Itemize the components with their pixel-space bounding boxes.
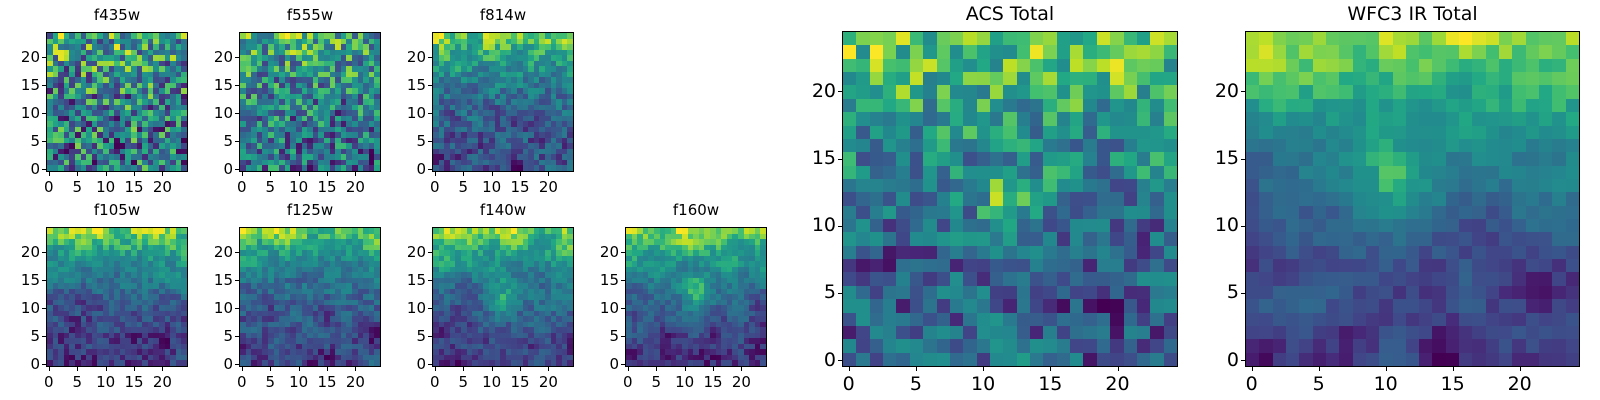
y-tick-f105w-0 <box>42 364 46 365</box>
x-tick-label-acs-total-15: 15 <box>1030 373 1070 395</box>
y-tick-f814w-15 <box>428 85 432 86</box>
y-tick-label-f814w-0: 0 <box>386 160 426 178</box>
y-tick-f435w-15 <box>42 85 46 86</box>
y-tick-f814w-10 <box>428 113 432 114</box>
x-tick-acs-total-10 <box>983 367 984 371</box>
y-tick-label-acs-total-15: 15 <box>796 147 836 169</box>
heatmap-f105w <box>46 227 188 367</box>
x-tick-f435w-5 <box>77 172 78 176</box>
panel-f435w: f435w0510152005101520 <box>0 2 202 202</box>
x-tick-f125w-15 <box>327 367 328 371</box>
x-tick-f435w-20 <box>162 172 163 176</box>
y-tick-label-f160w-10: 10 <box>579 299 619 317</box>
x-tick-acs-total-20 <box>1118 367 1119 371</box>
panel-f555w: f555w0510152005101520 <box>193 2 395 202</box>
y-tick-f140w-0 <box>428 364 432 365</box>
x-tick-label-acs-total-5: 5 <box>896 373 936 395</box>
y-tick-label-acs-total-5: 5 <box>796 281 836 303</box>
y-tick-f160w-0 <box>621 364 625 365</box>
x-tick-f125w-0 <box>242 367 243 371</box>
y-tick-f814w-5 <box>428 141 432 142</box>
heatmap-f435w <box>46 32 188 172</box>
y-tick-f160w-20 <box>621 252 625 253</box>
x-tick-f435w-10 <box>106 172 107 176</box>
y-tick-label-f555w-5: 5 <box>193 132 233 150</box>
y-tick-f555w-15 <box>235 85 239 86</box>
y-tick-label-f125w-10: 10 <box>193 299 233 317</box>
y-tick-label-wfc3-ir-total-0: 0 <box>1199 349 1239 371</box>
y-tick-label-f814w-15: 15 <box>386 76 426 94</box>
heatmap-f160w <box>625 227 767 367</box>
x-tick-f160w-15 <box>713 367 714 371</box>
x-tick-f814w-20 <box>548 172 549 176</box>
y-tick-label-f105w-0: 0 <box>0 355 40 373</box>
x-tick-f814w-15 <box>520 172 521 176</box>
y-tick-f814w-0 <box>428 169 432 170</box>
y-tick-f160w-5 <box>621 336 625 337</box>
panel-wfc3-ir-total: WFC3 IR Total0510152005101520 <box>1199 1 1594 397</box>
y-tick-f140w-15 <box>428 280 432 281</box>
y-tick-acs-total-15 <box>838 159 842 160</box>
y-tick-f125w-20 <box>235 252 239 253</box>
y-tick-label-f105w-5: 5 <box>0 327 40 345</box>
y-tick-acs-total-0 <box>838 360 842 361</box>
y-tick-f435w-0 <box>42 169 46 170</box>
y-tick-f555w-5 <box>235 141 239 142</box>
panel-title-f814w: f814w <box>432 6 574 24</box>
x-tick-label-wfc3-ir-total-10: 10 <box>1366 373 1406 395</box>
panel-title-f555w: f555w <box>239 6 381 24</box>
y-tick-label-f140w-10: 10 <box>386 299 426 317</box>
heatmap-f140w <box>432 227 574 367</box>
x-tick-label-wfc3-ir-total-5: 5 <box>1299 373 1339 395</box>
y-tick-f160w-15 <box>621 280 625 281</box>
y-tick-label-f555w-10: 10 <box>193 104 233 122</box>
y-tick-f125w-10 <box>235 308 239 309</box>
panel-f105w: f105w0510152005101520 <box>0 197 202 397</box>
y-tick-label-f125w-15: 15 <box>193 271 233 289</box>
y-tick-label-acs-total-20: 20 <box>796 80 836 102</box>
y-tick-label-f160w-20: 20 <box>579 243 619 261</box>
heatmap-f814w <box>432 32 574 172</box>
y-tick-f140w-20 <box>428 252 432 253</box>
y-tick-label-f435w-20: 20 <box>0 48 40 66</box>
y-tick-f435w-20 <box>42 57 46 58</box>
y-tick-f125w-0 <box>235 364 239 365</box>
y-tick-f105w-5 <box>42 336 46 337</box>
x-tick-wfc3-ir-total-10 <box>1386 367 1387 371</box>
x-tick-f140w-20 <box>548 367 549 371</box>
x-tick-f140w-5 <box>463 367 464 371</box>
x-tick-f125w-20 <box>355 367 356 371</box>
y-tick-label-wfc3-ir-total-5: 5 <box>1199 281 1239 303</box>
x-tick-f435w-15 <box>134 172 135 176</box>
y-tick-f140w-5 <box>428 336 432 337</box>
x-tick-f125w-5 <box>270 367 271 371</box>
heatmap-acs-total <box>842 31 1178 367</box>
x-tick-f160w-5 <box>656 367 657 371</box>
y-tick-label-wfc3-ir-total-20: 20 <box>1199 80 1239 102</box>
x-tick-f140w-10 <box>492 367 493 371</box>
y-tick-label-f160w-0: 0 <box>579 355 619 373</box>
x-tick-f814w-5 <box>463 172 464 176</box>
x-tick-label-f125w-20: 20 <box>335 373 375 391</box>
y-tick-wfc3-ir-total-20 <box>1241 91 1245 92</box>
y-tick-label-f160w-15: 15 <box>579 271 619 289</box>
y-tick-label-f140w-20: 20 <box>386 243 426 261</box>
y-tick-wfc3-ir-total-15 <box>1241 159 1245 160</box>
panel-f160w: f160w0510152005101520 <box>579 197 781 397</box>
y-tick-label-f435w-10: 10 <box>0 104 40 122</box>
panel-title-f125w: f125w <box>239 201 381 219</box>
y-tick-label-f435w-15: 15 <box>0 76 40 94</box>
panel-acs-total: ACS Total0510152005101520 <box>796 1 1192 397</box>
x-tick-label-f105w-20: 20 <box>142 373 182 391</box>
x-tick-f555w-20 <box>355 172 356 176</box>
x-tick-f814w-10 <box>492 172 493 176</box>
x-tick-f160w-10 <box>685 367 686 371</box>
y-tick-f105w-10 <box>42 308 46 309</box>
y-tick-label-f105w-20: 20 <box>0 243 40 261</box>
y-tick-label-f105w-15: 15 <box>0 271 40 289</box>
x-tick-label-wfc3-ir-total-0: 0 <box>1232 373 1272 395</box>
y-tick-acs-total-5 <box>838 293 842 294</box>
x-tick-f555w-10 <box>299 172 300 176</box>
y-tick-label-f140w-15: 15 <box>386 271 426 289</box>
panel-title-f160w: f160w <box>625 201 767 219</box>
x-tick-wfc3-ir-total-0 <box>1252 367 1253 371</box>
y-tick-label-f140w-5: 5 <box>386 327 426 345</box>
y-tick-wfc3-ir-total-0 <box>1241 360 1245 361</box>
y-tick-label-f125w-20: 20 <box>193 243 233 261</box>
y-tick-label-acs-total-0: 0 <box>796 349 836 371</box>
x-tick-f160w-20 <box>741 367 742 371</box>
x-tick-label-acs-total-0: 0 <box>829 373 869 395</box>
panel-title-wfc3-ir-total: WFC3 IR Total <box>1245 3 1580 25</box>
y-tick-label-f555w-15: 15 <box>193 76 233 94</box>
x-tick-f105w-20 <box>162 367 163 371</box>
y-tick-f105w-20 <box>42 252 46 253</box>
y-tick-f125w-5 <box>235 336 239 337</box>
y-tick-f555w-10 <box>235 113 239 114</box>
y-tick-f160w-10 <box>621 308 625 309</box>
x-tick-f555w-5 <box>270 172 271 176</box>
y-tick-label-f140w-0: 0 <box>386 355 426 373</box>
x-tick-label-f814w-20: 20 <box>528 178 568 196</box>
panel-f140w: f140w0510152005101520 <box>386 197 588 397</box>
panel-title-f140w: f140w <box>432 201 574 219</box>
y-tick-label-f105w-10: 10 <box>0 299 40 317</box>
x-tick-f140w-15 <box>520 367 521 371</box>
x-tick-label-f435w-20: 20 <box>142 178 182 196</box>
y-tick-wfc3-ir-total-5 <box>1241 293 1245 294</box>
y-tick-f435w-10 <box>42 113 46 114</box>
x-tick-acs-total-5 <box>916 367 917 371</box>
y-tick-wfc3-ir-total-10 <box>1241 226 1245 227</box>
y-tick-f555w-20 <box>235 57 239 58</box>
x-tick-f160w-0 <box>628 367 629 371</box>
x-tick-f105w-0 <box>49 367 50 371</box>
y-tick-label-wfc3-ir-total-10: 10 <box>1199 214 1239 236</box>
x-tick-f140w-0 <box>435 367 436 371</box>
x-tick-label-f160w-20: 20 <box>721 373 761 391</box>
y-tick-f435w-5 <box>42 141 46 142</box>
y-tick-f105w-15 <box>42 280 46 281</box>
y-tick-label-f814w-20: 20 <box>386 48 426 66</box>
x-tick-label-acs-total-20: 20 <box>1098 373 1138 395</box>
y-tick-label-f814w-5: 5 <box>386 132 426 150</box>
y-tick-f125w-15 <box>235 280 239 281</box>
x-tick-acs-total-15 <box>1050 367 1051 371</box>
y-tick-label-f160w-5: 5 <box>579 327 619 345</box>
y-tick-label-f814w-10: 10 <box>386 104 426 122</box>
y-tick-label-f555w-20: 20 <box>193 48 233 66</box>
y-tick-acs-total-10 <box>838 226 842 227</box>
y-tick-label-f125w-5: 5 <box>193 327 233 345</box>
y-tick-label-wfc3-ir-total-15: 15 <box>1199 147 1239 169</box>
x-tick-f105w-5 <box>77 367 78 371</box>
panel-title-acs-total: ACS Total <box>842 3 1178 25</box>
x-tick-label-acs-total-10: 10 <box>963 373 1003 395</box>
panel-title-f435w: f435w <box>46 6 188 24</box>
panel-f814w: f814w0510152005101520 <box>386 2 588 202</box>
x-tick-f105w-15 <box>134 367 135 371</box>
y-tick-f814w-20 <box>428 57 432 58</box>
y-tick-f555w-0 <box>235 169 239 170</box>
y-tick-f140w-10 <box>428 308 432 309</box>
x-tick-f814w-0 <box>435 172 436 176</box>
x-tick-f555w-15 <box>327 172 328 176</box>
y-tick-acs-total-20 <box>838 91 842 92</box>
x-tick-wfc3-ir-total-15 <box>1453 367 1454 371</box>
x-tick-acs-total-0 <box>849 367 850 371</box>
y-tick-label-f125w-0: 0 <box>193 355 233 373</box>
heatmap-f555w <box>239 32 381 172</box>
x-tick-f105w-10 <box>106 367 107 371</box>
x-tick-f125w-10 <box>299 367 300 371</box>
x-tick-label-f555w-20: 20 <box>335 178 375 196</box>
x-tick-label-wfc3-ir-total-20: 20 <box>1500 373 1540 395</box>
x-tick-wfc3-ir-total-20 <box>1520 367 1521 371</box>
heatmap-f125w <box>239 227 381 367</box>
x-tick-f435w-0 <box>49 172 50 176</box>
y-tick-label-acs-total-10: 10 <box>796 214 836 236</box>
panel-f125w: f125w0510152005101520 <box>193 197 395 397</box>
x-tick-label-wfc3-ir-total-15: 15 <box>1433 373 1473 395</box>
y-tick-label-f435w-5: 5 <box>0 132 40 150</box>
y-tick-label-f435w-0: 0 <box>0 160 40 178</box>
x-tick-wfc3-ir-total-5 <box>1319 367 1320 371</box>
y-tick-label-f555w-0: 0 <box>193 160 233 178</box>
panel-title-f105w: f105w <box>46 201 188 219</box>
x-tick-label-f140w-20: 20 <box>528 373 568 391</box>
x-tick-f555w-0 <box>242 172 243 176</box>
heatmap-wfc3-ir-total <box>1245 31 1580 367</box>
